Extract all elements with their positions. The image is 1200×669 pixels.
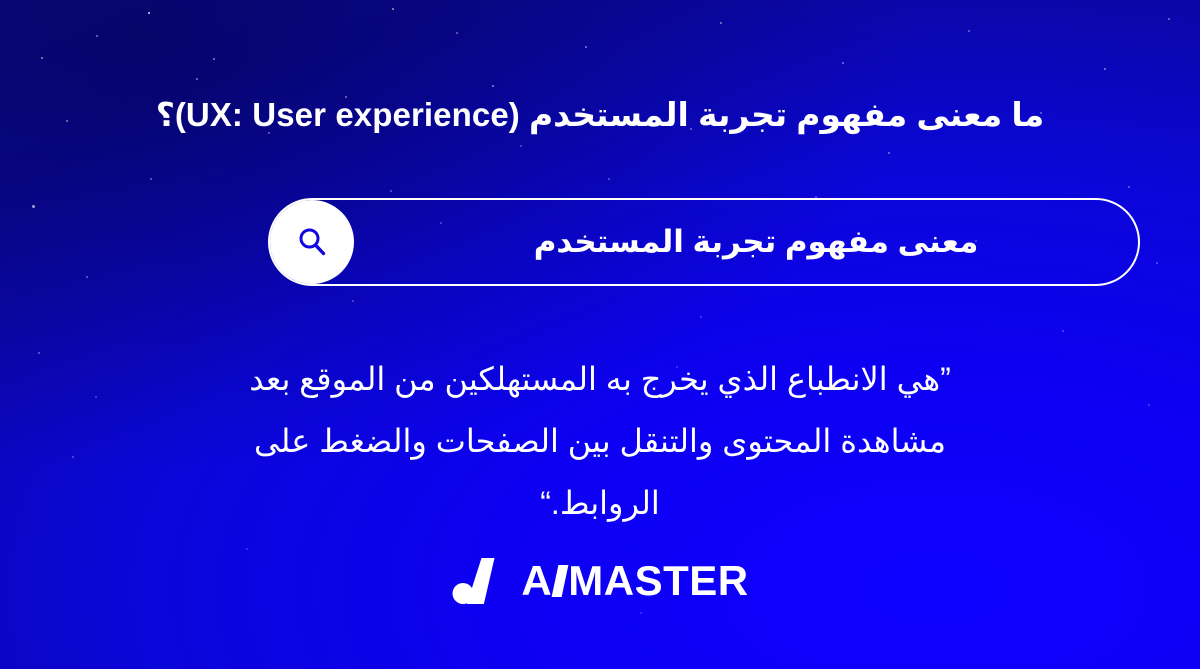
aimaster-mark-icon [451, 558, 505, 604]
search-input[interactable]: معنى مفهوم تجربة المستخدم [352, 224, 1138, 260]
brand-logo: A MASTER [0, 558, 1200, 604]
quote-line: مشاهدة المحتوى والتنقل بين الصفحات والضغ… [90, 410, 1110, 472]
quote-line: الروابط.“ [90, 472, 1110, 534]
search-bar[interactable]: معنى مفهوم تجربة المستخدم [268, 198, 1140, 286]
brand-wordmark: A MASTER [521, 560, 748, 602]
page-title: ما معنى مفهوم تجربة المستخدم (UX: User e… [0, 94, 1200, 135]
brand-wordmark-prefix: A [521, 560, 552, 602]
brand-wordmark-suffix: MASTER [568, 560, 748, 602]
brand-wordmark-slash [552, 565, 569, 597]
quote-line: ”هي الانطباع الذي يخرج به المستهلكين من … [90, 348, 1110, 410]
quote-text: ”هي الانطباع الذي يخرج به المستهلكين من … [0, 348, 1200, 534]
search-button[interactable] [270, 200, 354, 284]
search-icon [292, 222, 332, 262]
slide-canvas: ما معنى مفهوم تجربة المستخدم (UX: User e… [0, 0, 1200, 669]
